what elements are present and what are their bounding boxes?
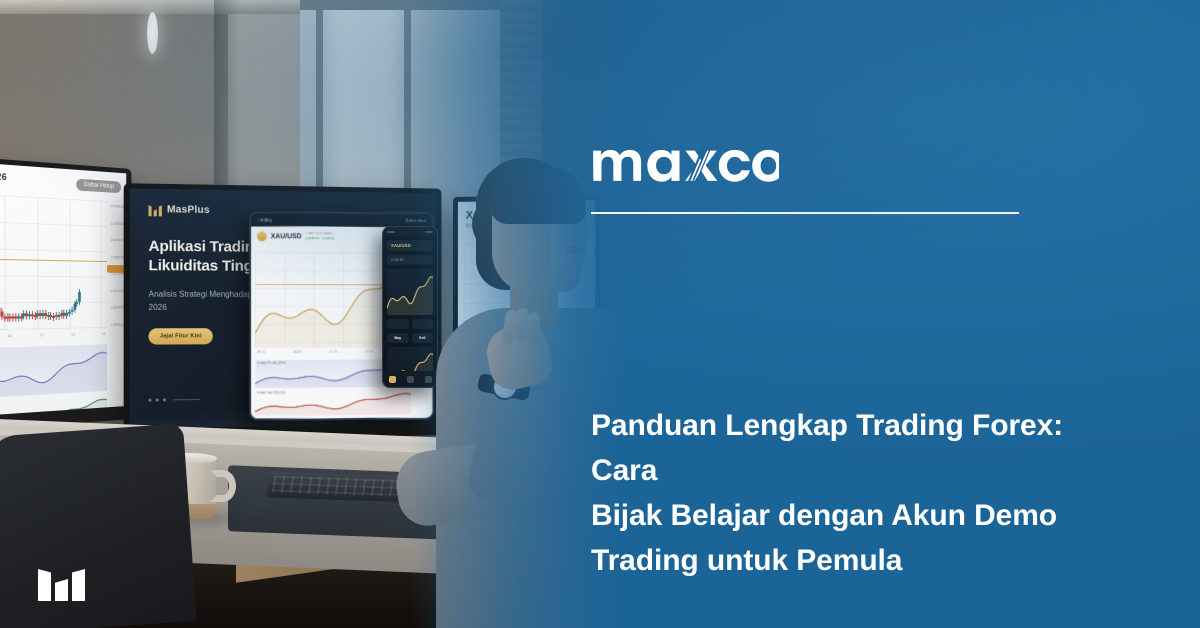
monogram-bar xyxy=(55,579,68,601)
title-line-2: Bijak Belajar dengan Akun Demo xyxy=(591,493,1105,538)
banner: rt 2026 Daftar Hidup 2,035.20 2,030.10 2… xyxy=(0,0,1200,628)
header-divider xyxy=(591,212,1019,214)
title-line-3: Trading untuk Pemula xyxy=(591,538,1105,583)
monogram-bar xyxy=(38,569,51,601)
title-line-1: Panduan Lengkap Trading Forex: Cara xyxy=(591,403,1105,493)
maxco-wordmark-icon xyxy=(591,135,779,183)
page-title: Panduan Lengkap Trading Forex: Cara Bija… xyxy=(591,403,1105,583)
monogram-bar xyxy=(72,569,85,601)
maxco-monogram-icon xyxy=(38,567,86,601)
brand-content: Panduan Lengkap Trading Forex: Cara Bija… xyxy=(591,0,1151,628)
maxco-logo xyxy=(591,135,779,183)
